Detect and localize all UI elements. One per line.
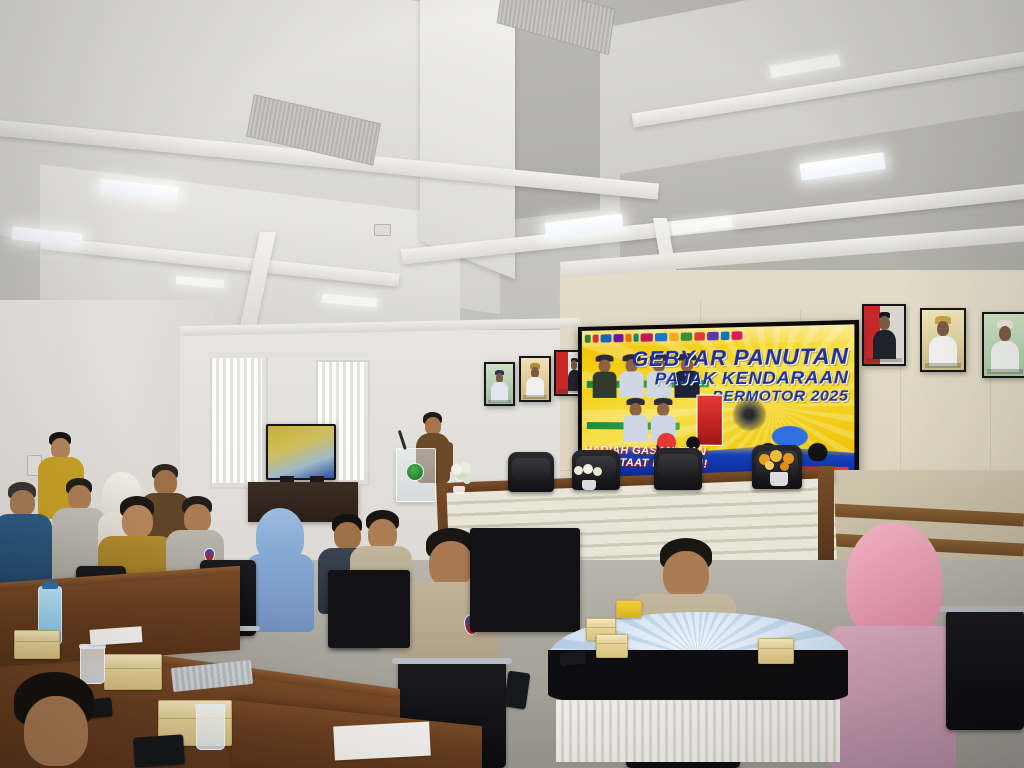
sponsor-logo-icon (721, 331, 730, 340)
podium-flower (450, 462, 472, 480)
snack-box (758, 638, 794, 664)
sponsor-logo-icon (655, 333, 667, 342)
wall-portrait (920, 308, 966, 372)
banner-headline: GEBYAR PANUTAN PAJAK KENDARAAN BERMOTOR … (632, 345, 849, 403)
person-foreground-head (14, 672, 100, 768)
sponsor-logo-icon (585, 335, 591, 343)
person-hijab-blue (246, 508, 316, 632)
podium-emblem-icon (406, 463, 424, 481)
sponsor-logo-icon (669, 333, 678, 342)
banner-official-figure (592, 354, 618, 399)
sponsor-logo-icon (681, 332, 692, 341)
head-table-chair[interactable] (654, 448, 702, 490)
led-video-wall: GEBYAR PANUTAN PAJAK KENDARAAN BERMOTOR … (578, 320, 859, 488)
water-cup (196, 706, 225, 750)
flower-arrangement (572, 466, 606, 490)
wall-portrait (484, 362, 515, 406)
sponsor-logo-icon (694, 332, 705, 341)
notebook[interactable] (133, 734, 185, 767)
speaker-podium (396, 448, 436, 502)
sponsor-logo-icon (707, 332, 719, 341)
sponsor-logo-icon (626, 334, 632, 343)
sponsor-logo-icon (593, 334, 599, 343)
snack-box (14, 630, 60, 659)
sponsor-logo-icon (641, 333, 653, 342)
round-table-skirt (556, 700, 840, 762)
wall-portrait (982, 312, 1024, 378)
snack-box (104, 654, 162, 690)
hijab (846, 522, 942, 638)
folding-chair[interactable] (946, 610, 1024, 730)
sponsor-logo-icon (732, 331, 743, 340)
sponsor-logo-icon (601, 334, 612, 343)
floor-monitor (328, 570, 410, 648)
banner-headline-line2: PAJAK KENDARAAN (632, 368, 849, 388)
snack-box (616, 600, 642, 618)
document-paper (333, 722, 431, 761)
sponsor-logo-icon (613, 334, 623, 343)
person-grey-uniform-left (0, 482, 56, 592)
smartphone[interactable] (559, 651, 586, 667)
snack-box (596, 634, 628, 658)
flower-arrangement (758, 452, 800, 486)
wall-portrait (862, 304, 906, 366)
meeting-hall-photo: GEBYAR PANUTAN PAJAK KENDARAAN BERMOTOR … (0, 0, 1024, 768)
wall-portrait (519, 356, 551, 402)
banner-official-figure (622, 397, 648, 442)
head-table-chair[interactable] (508, 452, 554, 492)
smoke-detector-icon (374, 224, 391, 236)
side-tv-monitor (266, 424, 336, 480)
sponsor-logo-icon (634, 333, 639, 342)
